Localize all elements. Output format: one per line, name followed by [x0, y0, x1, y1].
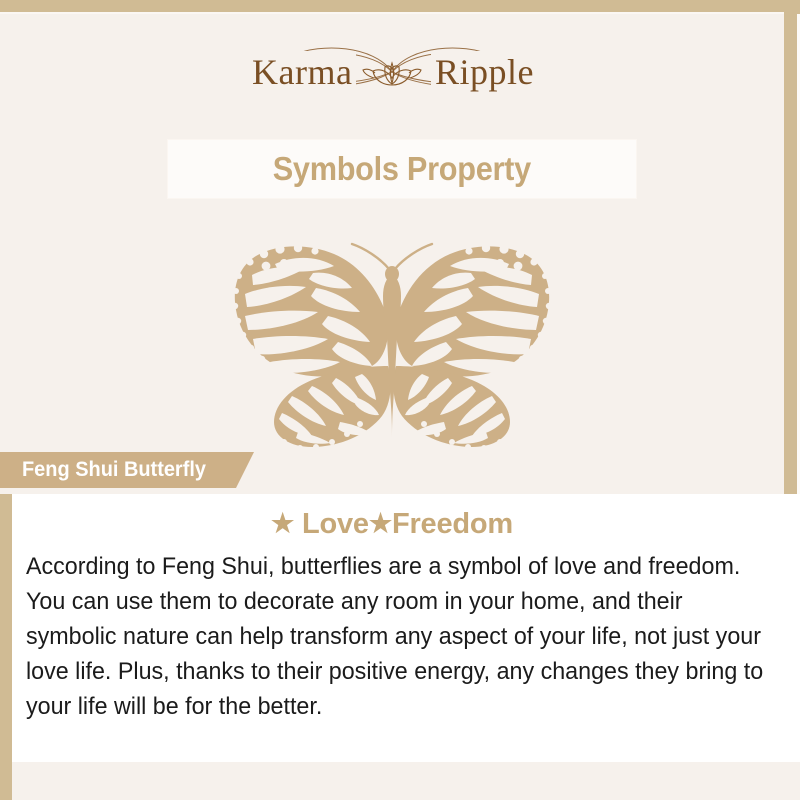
hero-banner: Feng Shui Butterfly: [0, 452, 254, 488]
feng-shui-butterfly-icon: [212, 238, 572, 453]
logo-word-ripple: Ripple: [431, 51, 538, 93]
keywords-heading: ★ Love★Freedom: [12, 508, 772, 541]
title-bar: Symbols Property: [168, 140, 636, 198]
keyword-love: Love: [302, 508, 369, 540]
banner-label: Feng Shui Butterfly: [22, 458, 206, 482]
logo-word-karma: Karma: [248, 51, 356, 93]
star-icon-separator: ★: [369, 508, 392, 538]
bottom-cream-strip: [12, 762, 800, 800]
butterfly-illustration: [0, 225, 784, 465]
keyword-freedom: Freedom: [392, 508, 513, 540]
brand-logo: Karma Ripple: [0, 34, 784, 110]
content-section: ★ Love★Freedom According to Feng Shui, b…: [12, 494, 800, 762]
page-title: Symbols Property: [273, 150, 531, 188]
poster-canvas: Karma Ripple Symbols Property: [0, 0, 800, 800]
star-icon-leading: ★: [271, 508, 294, 538]
description-paragraph: According to Feng Shui, butterflies are …: [26, 549, 775, 724]
logo-lockup: Karma Ripple: [242, 37, 542, 107]
